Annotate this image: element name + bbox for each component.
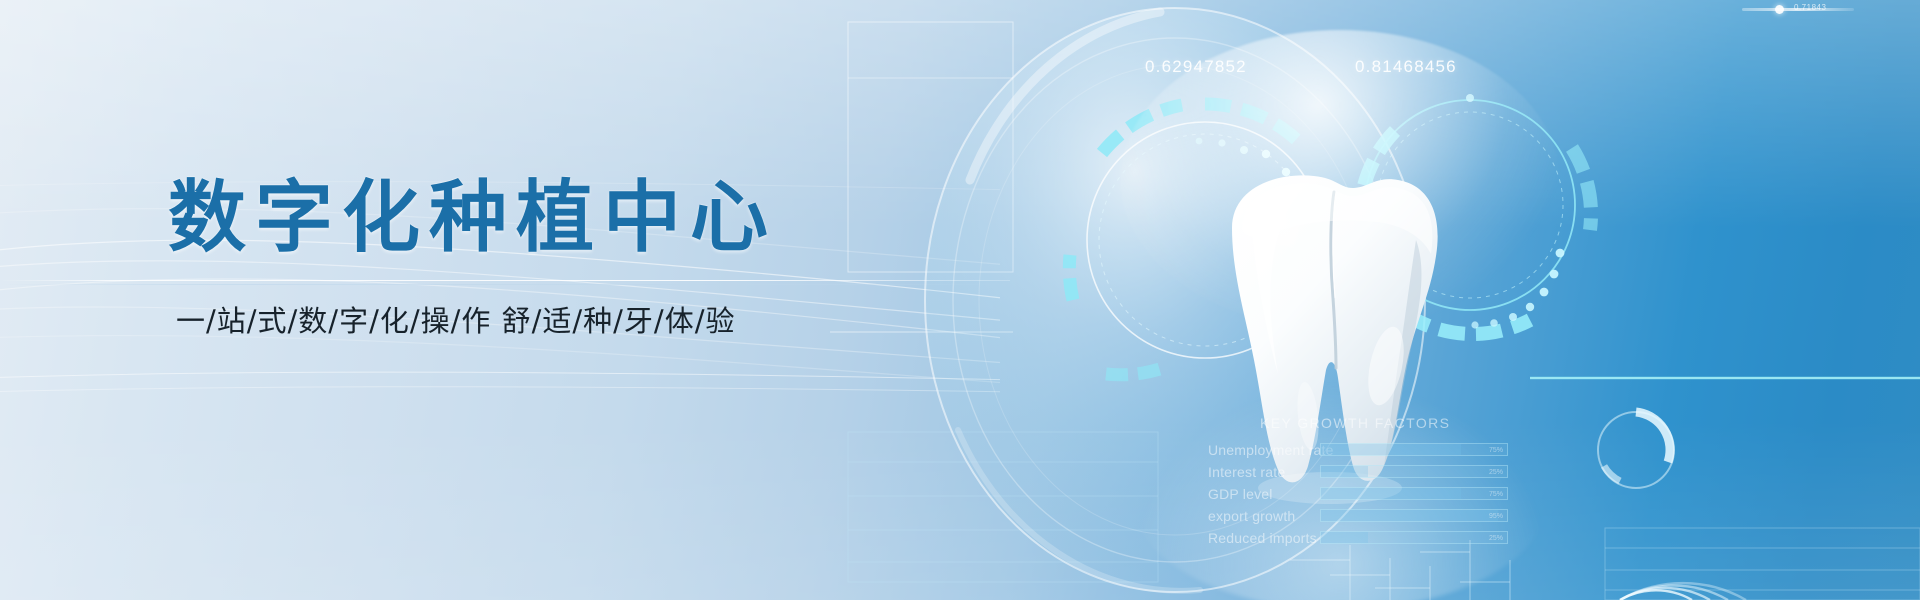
- panel-row: Unemployment rate75%: [1208, 440, 1508, 459]
- hud-slider-knob[interactable]: [1775, 5, 1784, 14]
- hud-dial-left: [1069, 104, 1323, 375]
- banner-title: 数字化种植中心: [168, 178, 808, 260]
- panel-row-label: GDP level: [1208, 486, 1320, 502]
- panel-row-percent: 75%: [1489, 444, 1503, 457]
- panel-row-bar-fill: [1321, 488, 1461, 499]
- panel-row-percent: 25%: [1489, 532, 1503, 545]
- panel-row-bar: 25%: [1320, 465, 1508, 478]
- hud-small-ring: [1598, 412, 1674, 488]
- panel-row: export growth95%: [1208, 506, 1508, 525]
- panel-row-label: export growth: [1208, 508, 1320, 524]
- key-growth-factors-panel: KEY GROWTH FACTORS Unemployment rate75%I…: [1208, 415, 1508, 550]
- panel-title: KEY GROWTH FACTORS: [1260, 415, 1508, 431]
- panel-row-bar: 25%: [1320, 531, 1508, 544]
- title-divider-line-secondary: [0, 284, 1010, 285]
- hud-slider-value: 0.71843: [1794, 3, 1826, 12]
- panel-row-label: Reduced imports: [1208, 530, 1320, 546]
- panel-row-bar-fill: [1321, 466, 1368, 477]
- panel-row-bar-fill: [1321, 444, 1461, 455]
- panel-row-percent: 25%: [1489, 466, 1503, 479]
- panel-row: Reduced imports25%: [1208, 528, 1508, 547]
- hud-readout-left: 0.62947852: [1145, 57, 1247, 77]
- panel-row: Interest rate25%: [1208, 462, 1508, 481]
- banner-subtitle: 一/站/式/数/字/化/操/作 舒/适/种/牙/体/验: [176, 298, 735, 340]
- hero-banner: 数字化种植中心 一/站/式/数/字/化/操/作 舒/适/种/牙/体/验: [0, 0, 1920, 600]
- panel-row-bar: 75%: [1320, 487, 1508, 500]
- title-divider-line: [0, 280, 1010, 281]
- hud-readout-right: 0.81468456: [1355, 57, 1457, 77]
- hud-frame-left: [830, 22, 1013, 332]
- panel-row-bar-fill: [1321, 510, 1498, 521]
- panel-row-bar: 95%: [1320, 509, 1508, 522]
- panel-row-bar: 75%: [1320, 443, 1508, 456]
- panel-row-label: Interest rate: [1208, 464, 1320, 480]
- panel-row-bar-fill: [1321, 532, 1368, 543]
- hud-slider[interactable]: 0.71843: [1742, 5, 1854, 14]
- panel-row-percent: 75%: [1489, 488, 1503, 501]
- hud-dial-right: [1360, 94, 1591, 334]
- banner-text-block: 数字化种植中心 一/站/式/数/字/化/操/作 舒/适/种/牙/体/验: [168, 178, 808, 260]
- panel-row-percent: 95%: [1489, 510, 1503, 523]
- panel-rows: Unemployment rate75%Interest rate25%GDP …: [1208, 440, 1508, 547]
- panel-row: GDP level75%: [1208, 484, 1508, 503]
- hud-frame-bottom-left: [848, 432, 1158, 582]
- panel-row-label: Unemployment rate: [1208, 442, 1320, 458]
- hud-bottom-right-arcs: [1605, 528, 1920, 600]
